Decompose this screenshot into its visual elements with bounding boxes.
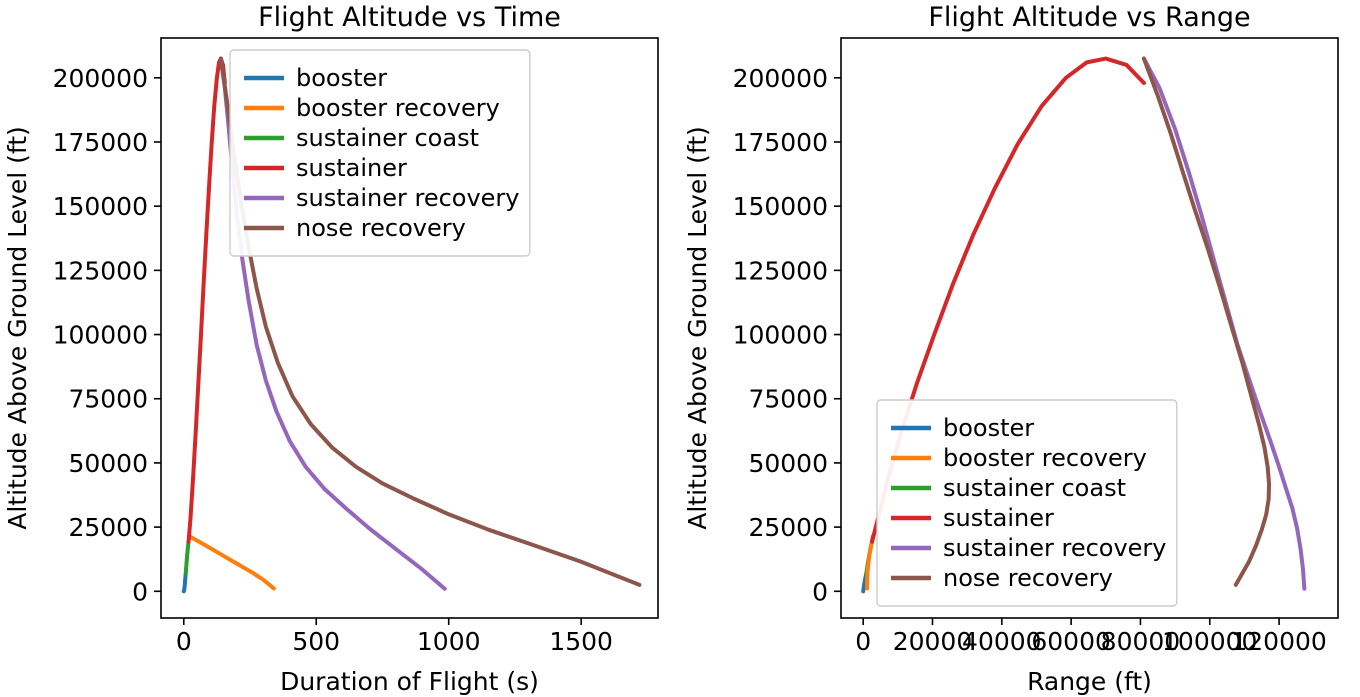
series-line-sustainer (189, 59, 225, 542)
y-tick-label: 200000 (733, 64, 828, 93)
y-axis-title: Altitude Above Ground Level (ft) (3, 126, 32, 530)
y-tick-label: 125000 (733, 256, 828, 285)
y-tick-label: 75000 (748, 385, 828, 414)
legend-label-nose-recovery: nose recovery (296, 214, 466, 242)
y-tick-label: 150000 (53, 192, 148, 221)
matplotlib-figure: Flight Altitude vs Time05001000150002500… (0, 0, 1360, 697)
y-tick-label: 100000 (733, 321, 828, 350)
legend-label-booster: booster (296, 64, 387, 92)
series-line-booster-recovery (189, 536, 274, 588)
plot-canvas: Flight Altitude vs Time05001000150002500… (0, 0, 680, 697)
legend-label-nose-recovery: nose recovery (943, 564, 1113, 592)
y-tick-label: 0 (812, 577, 828, 606)
series-line-booster-recovery (867, 536, 873, 588)
legend-label-sustainer-recovery: sustainer recovery (943, 534, 1167, 562)
legend-label-sustainer-coast: sustainer coast (943, 474, 1126, 502)
x-tick-label: 1500 (549, 627, 613, 656)
legend-label-booster: booster (943, 414, 1034, 442)
legend-label-booster-recovery: booster recovery (296, 94, 500, 122)
x-axis-title: Duration of Flight (s) (280, 667, 539, 696)
legend-label-sustainer: sustainer (943, 504, 1054, 532)
y-tick-label: 50000 (68, 449, 148, 478)
y-tick-label: 200000 (53, 64, 148, 93)
legend-label-sustainer-recovery: sustainer recovery (296, 184, 520, 212)
y-tick-label: 125000 (53, 256, 148, 285)
y-tick-label: 0 (132, 577, 148, 606)
x-tick-label: 120000 (1231, 627, 1326, 656)
y-tick-label: 150000 (733, 192, 828, 221)
y-tick-label: 175000 (733, 128, 828, 157)
axes-altitude-vs-range: Flight Altitude vs Range0200004000060000… (680, 0, 1360, 697)
plot-title: Flight Altitude vs Time (258, 2, 561, 33)
y-tick-label: 75000 (68, 385, 148, 414)
x-tick-label: 20000 (893, 627, 973, 656)
y-tick-label: 25000 (748, 513, 828, 542)
legend-label-sustainer-coast: sustainer coast (296, 124, 479, 152)
y-tick-label: 175000 (53, 128, 148, 157)
y-axis-title: Altitude Above Ground Level (ft) (683, 126, 712, 530)
legend: boosterbooster recoverysustainer coastsu… (877, 400, 1177, 606)
x-tick-label: 0 (855, 627, 871, 656)
y-tick-label: 50000 (748, 449, 828, 478)
series-line-sustainer-coast (186, 542, 189, 573)
x-axis-title: Range (ft) (1027, 667, 1152, 696)
plot-title: Flight Altitude vs Range (928, 2, 1250, 33)
axes-altitude-vs-time: Flight Altitude vs Time05001000150002500… (0, 0, 680, 697)
legend: boosterbooster recoverysustainer coastsu… (230, 50, 530, 256)
x-tick-label: 500 (292, 627, 340, 656)
legend-label-sustainer: sustainer (296, 154, 407, 182)
legend-label-booster-recovery: booster recovery (943, 444, 1147, 472)
series-line-booster (184, 573, 186, 591)
x-tick-label: 0 (176, 627, 192, 656)
x-tick-label: 60000 (1031, 627, 1111, 656)
y-tick-label: 100000 (53, 321, 148, 350)
x-tick-label: 40000 (962, 627, 1042, 656)
x-tick-label: 1000 (417, 627, 481, 656)
y-tick-label: 25000 (68, 513, 148, 542)
plot-canvas: Flight Altitude vs Range0200004000060000… (680, 0, 1360, 697)
